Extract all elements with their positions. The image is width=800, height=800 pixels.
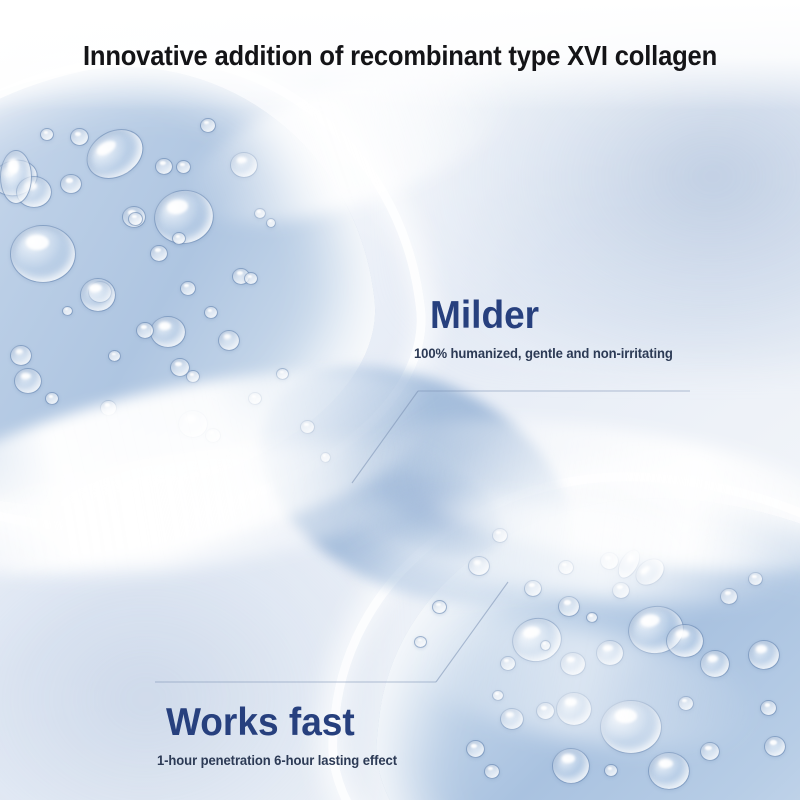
gel-bubble	[10, 345, 32, 366]
gel-bubble	[70, 128, 89, 146]
gel-bubble	[186, 370, 200, 383]
gel-bubble	[180, 281, 196, 296]
gel-bubble	[432, 600, 447, 614]
gel-bubble	[205, 428, 221, 443]
gel-bubble	[80, 278, 116, 312]
gel-bubble	[484, 764, 500, 779]
gel-bubble	[320, 452, 331, 463]
gel-bubble	[466, 740, 485, 758]
gel-bubble	[560, 652, 586, 676]
gel-bubble	[700, 742, 720, 761]
gel-bubble	[230, 152, 258, 178]
gel-bubble	[176, 160, 191, 174]
gel-bubble	[128, 212, 143, 226]
gel-bubble	[748, 572, 763, 586]
gel-bubble	[492, 528, 508, 543]
gel-bubble	[100, 400, 117, 416]
callout-milder-title: Milder	[430, 296, 682, 335]
gel-bubble	[748, 640, 780, 670]
callout-works-fast-subtitle: 1-hour penetration 6-hour lasting effect	[157, 753, 397, 769]
gel-bubble	[155, 158, 173, 175]
gel-bubble	[300, 420, 315, 434]
gel-bubble	[600, 552, 619, 570]
gel-bubble	[604, 764, 618, 777]
gel-bubble	[500, 708, 524, 730]
gel-bubble	[60, 174, 82, 194]
gel-bubble	[172, 232, 186, 245]
gel-bubble	[558, 560, 574, 575]
product-poster: Innovative addition of recombinant type …	[0, 0, 800, 800]
gel-bubble	[244, 272, 258, 285]
gel-bubble	[108, 350, 121, 362]
callout-works-fast: Works fast 1-hour penetration 6-hour las…	[157, 703, 418, 769]
gel-bubble	[586, 612, 598, 623]
gel-bubble	[254, 208, 266, 219]
gel-bubble	[764, 736, 786, 757]
gel-bubble	[266, 218, 276, 228]
gel-bubble	[136, 322, 154, 339]
gel-bubble	[524, 580, 542, 597]
gel-bubble	[150, 316, 186, 348]
gel-bubble	[492, 690, 504, 701]
gel-bubble	[612, 582, 630, 599]
gel-bubble	[558, 596, 580, 617]
callout-milder-subtitle: 100% humanized, gentle and non-irritatin…	[414, 346, 673, 362]
gel-bubble	[760, 700, 777, 716]
gel-bubble	[600, 700, 662, 754]
gel-bubble	[536, 702, 555, 720]
gel-bubble	[0, 150, 32, 204]
gel-bubble	[700, 650, 730, 678]
gel-bubble	[200, 118, 216, 133]
callout-works-fast-title: Works fast	[166, 703, 405, 742]
gel-bubble	[648, 752, 690, 790]
gel-bubble	[40, 128, 54, 141]
gel-bubble	[248, 392, 262, 405]
gel-bubble	[414, 636, 427, 648]
gel-bubble	[62, 306, 73, 316]
gel-bubble	[666, 624, 704, 658]
gel-bubble	[596, 640, 624, 666]
gel-bubble	[204, 306, 218, 319]
gel-bubble	[178, 410, 208, 438]
gel-bubble	[10, 225, 76, 283]
gel-bubble	[468, 556, 490, 576]
gel-bubble	[500, 656, 516, 671]
gel-bubble	[14, 368, 42, 394]
gel-bubble	[678, 696, 694, 711]
gel-bubble	[150, 245, 168, 262]
callout-milder: Milder 100% humanized, gentle and non-ir…	[414, 296, 695, 362]
gel-bubble	[540, 640, 551, 651]
gel-bubble	[45, 392, 59, 405]
gel-bubble	[276, 368, 289, 380]
page-title: Innovative addition of recombinant type …	[28, 40, 772, 72]
gel-bubble	[552, 748, 590, 784]
gel-bubble	[218, 330, 240, 351]
gel-bubble	[720, 588, 738, 605]
gel-bubble	[556, 692, 592, 726]
